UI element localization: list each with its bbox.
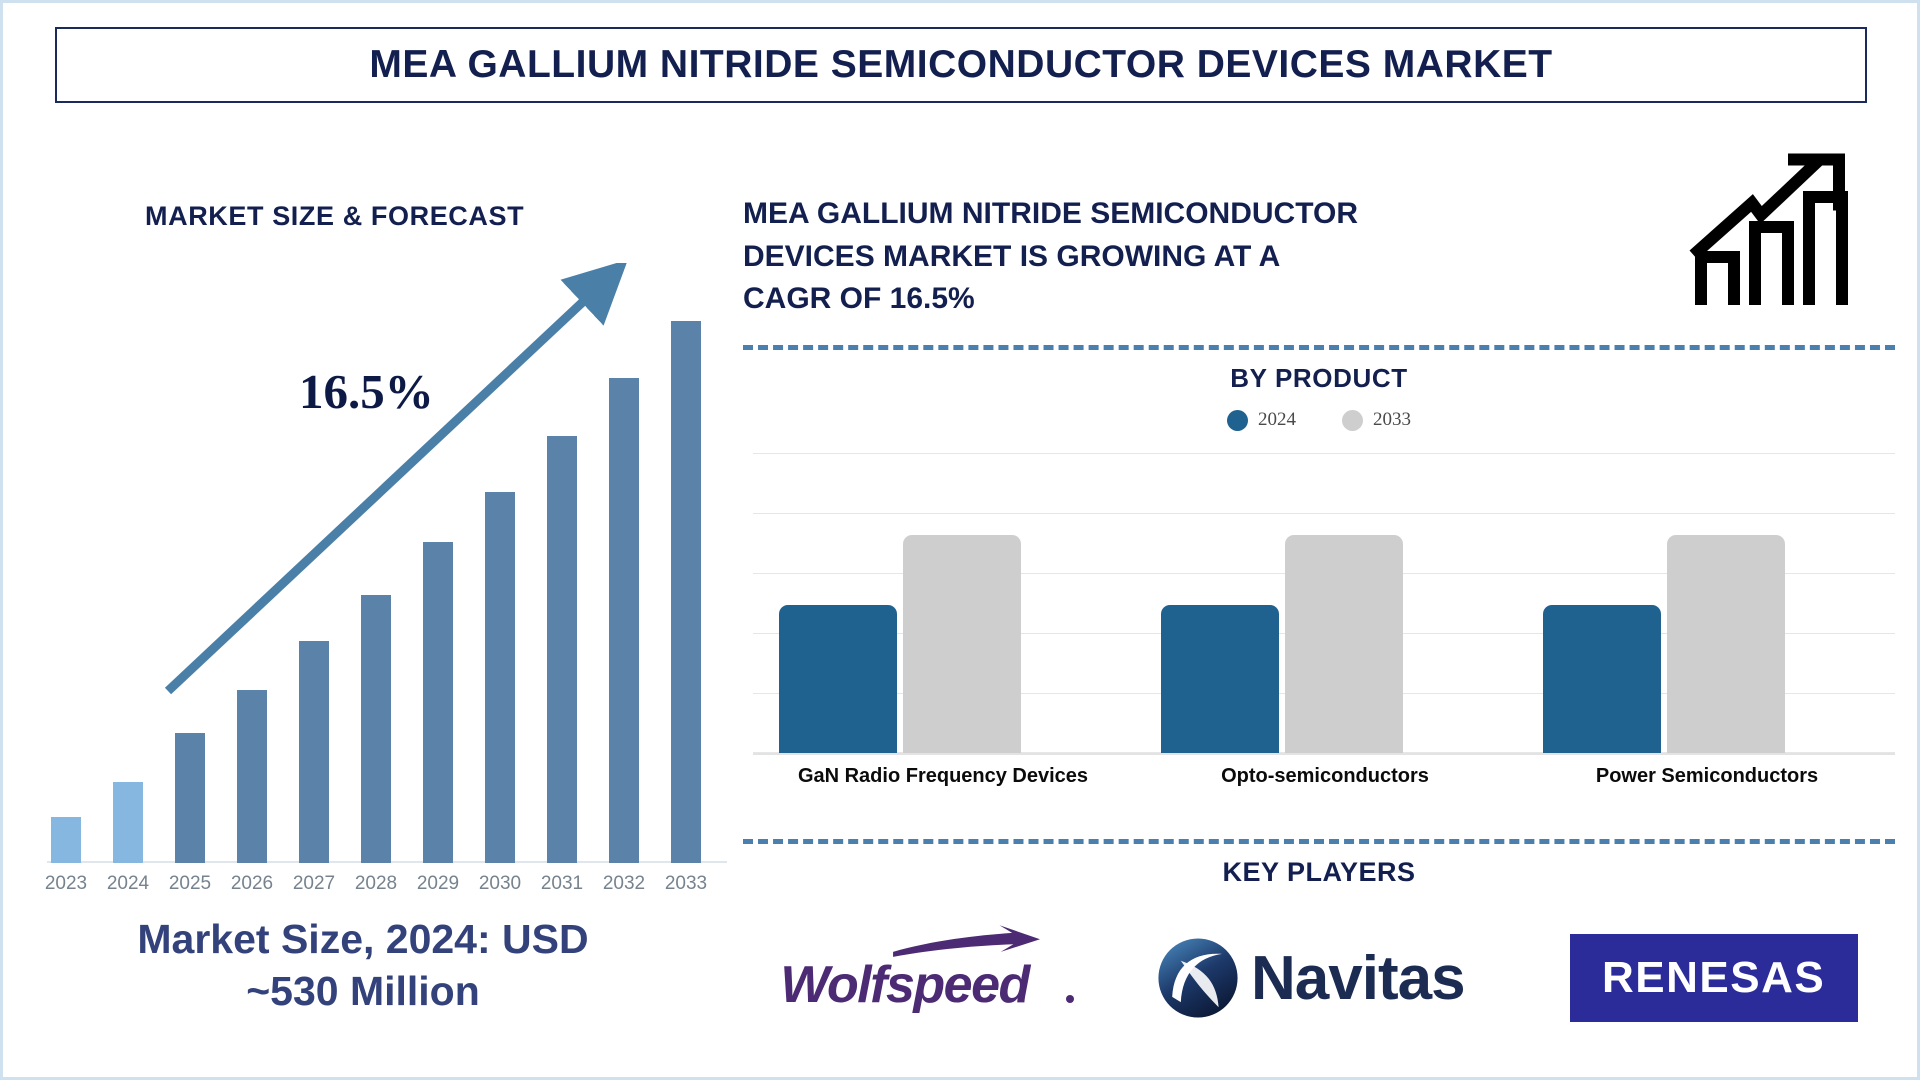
logo-renesas: RENESAS bbox=[1570, 934, 1858, 1022]
bar-2027 bbox=[299, 641, 329, 863]
legend-item-2033: 2033 bbox=[1342, 409, 1411, 431]
bar-gan-rf-2024 bbox=[779, 605, 897, 753]
year-label: 2026 bbox=[225, 873, 279, 895]
legend-dot-icon bbox=[1227, 410, 1248, 431]
legend-label: 2024 bbox=[1258, 409, 1296, 431]
year-label: 2023 bbox=[39, 873, 93, 895]
market-size-line-1: Market Size, 2024: USD bbox=[23, 913, 703, 965]
product-chart-axis bbox=[753, 753, 1895, 755]
cagr-headline-line-2: DEVICES MARKET IS GROWING AT A bbox=[743, 236, 1673, 279]
year-label: 2027 bbox=[287, 873, 341, 895]
bar-gan-rf-2033 bbox=[903, 535, 1021, 753]
market-size-line-2: ~530 Million bbox=[23, 965, 703, 1017]
by-product-bar-chart bbox=[753, 453, 1895, 753]
bar-power-2024 bbox=[1543, 605, 1661, 753]
by-product-title: BY PRODUCT bbox=[743, 363, 1895, 394]
navitas-wordmark: Navitas bbox=[1251, 943, 1465, 1014]
product-category-labels: GaN Radio Frequency Devices Opto-semicon… bbox=[753, 765, 1895, 795]
year-axis-labels: 2023 2024 2025 2026 2027 2028 2029 2030 … bbox=[23, 873, 713, 903]
year-label: 2033 bbox=[659, 873, 713, 895]
legend-dot-icon bbox=[1342, 410, 1363, 431]
cagr-headline-line-3: CAGR OF 16.5% bbox=[743, 278, 1673, 321]
product-group-gan-rf bbox=[779, 453, 1109, 753]
year-label: 2024 bbox=[101, 873, 155, 895]
year-label: 2032 bbox=[597, 873, 651, 895]
divider-bottom bbox=[743, 839, 1895, 844]
navitas-globe-icon bbox=[1155, 935, 1241, 1021]
product-group-power bbox=[1543, 453, 1873, 753]
bar-2033 bbox=[671, 321, 701, 863]
bar-2032 bbox=[609, 378, 639, 863]
year-label: 2029 bbox=[411, 873, 465, 895]
key-players-logos: Wolfspeed bbox=[743, 913, 1895, 1043]
divider-top bbox=[743, 345, 1895, 350]
bar-2031 bbox=[547, 436, 577, 863]
page-title: MEA GALLIUM NITRIDE SEMICONDUCTOR DEVICE… bbox=[369, 43, 1552, 87]
bar-2029 bbox=[423, 542, 453, 863]
product-label-power: Power Semiconductors bbox=[1527, 765, 1887, 788]
product-chart-legend: 2024 2033 bbox=[743, 409, 1895, 431]
logo-navitas: Navitas bbox=[1155, 923, 1495, 1033]
cagr-headline-line-1: MEA GALLIUM NITRIDE SEMICONDUCTOR bbox=[743, 193, 1673, 236]
market-size-value: Market Size, 2024: USD ~530 Million bbox=[23, 913, 703, 1018]
bar-2024 bbox=[113, 782, 143, 863]
legend-item-2024: 2024 bbox=[1227, 409, 1296, 431]
market-size-bar-chart bbox=[23, 263, 713, 863]
market-size-forecast-heading: MARKET SIZE & FORECAST bbox=[145, 201, 524, 232]
year-label: 2028 bbox=[349, 873, 403, 895]
market-size-forecast-panel: MARKET SIZE & FORECAST 16.5% bbox=[3, 113, 715, 1073]
logo-wolfspeed: Wolfspeed bbox=[780, 923, 1080, 1033]
bar-opto-2024 bbox=[1161, 605, 1279, 753]
right-panel: MEA GALLIUM NITRIDE SEMICONDUCTOR DEVICE… bbox=[743, 113, 1903, 1073]
year-label: 2031 bbox=[535, 873, 589, 895]
product-label-opto: Opto-semiconductors bbox=[1145, 765, 1505, 788]
bar-opto-2033 bbox=[1285, 535, 1403, 753]
bar-2025 bbox=[175, 733, 205, 863]
title-box: MEA GALLIUM NITRIDE SEMICONDUCTOR DEVICE… bbox=[55, 27, 1867, 103]
cagr-headline: MEA GALLIUM NITRIDE SEMICONDUCTOR DEVICE… bbox=[743, 193, 1673, 321]
renesas-wordmark: RENESAS bbox=[1602, 953, 1825, 1003]
year-label: 2025 bbox=[163, 873, 217, 895]
key-players-title: KEY PLAYERS bbox=[743, 857, 1895, 888]
legend-label: 2033 bbox=[1373, 409, 1411, 431]
product-label-gan-rf: GaN Radio Frequency Devices bbox=[763, 765, 1123, 788]
growth-bar-chart-icon bbox=[1683, 143, 1863, 323]
bar-2028 bbox=[361, 595, 391, 863]
infographic-frame: MEA GALLIUM NITRIDE SEMICONDUCTOR DEVICE… bbox=[0, 0, 1920, 1080]
product-group-opto bbox=[1161, 453, 1491, 753]
bar-2030 bbox=[485, 492, 515, 863]
bar-power-2033 bbox=[1667, 535, 1785, 753]
bar-2026 bbox=[237, 690, 267, 863]
year-label: 2030 bbox=[473, 873, 527, 895]
bar-2023 bbox=[51, 817, 81, 863]
wolfspeed-wordmark: Wolfspeed bbox=[780, 955, 1080, 1015]
